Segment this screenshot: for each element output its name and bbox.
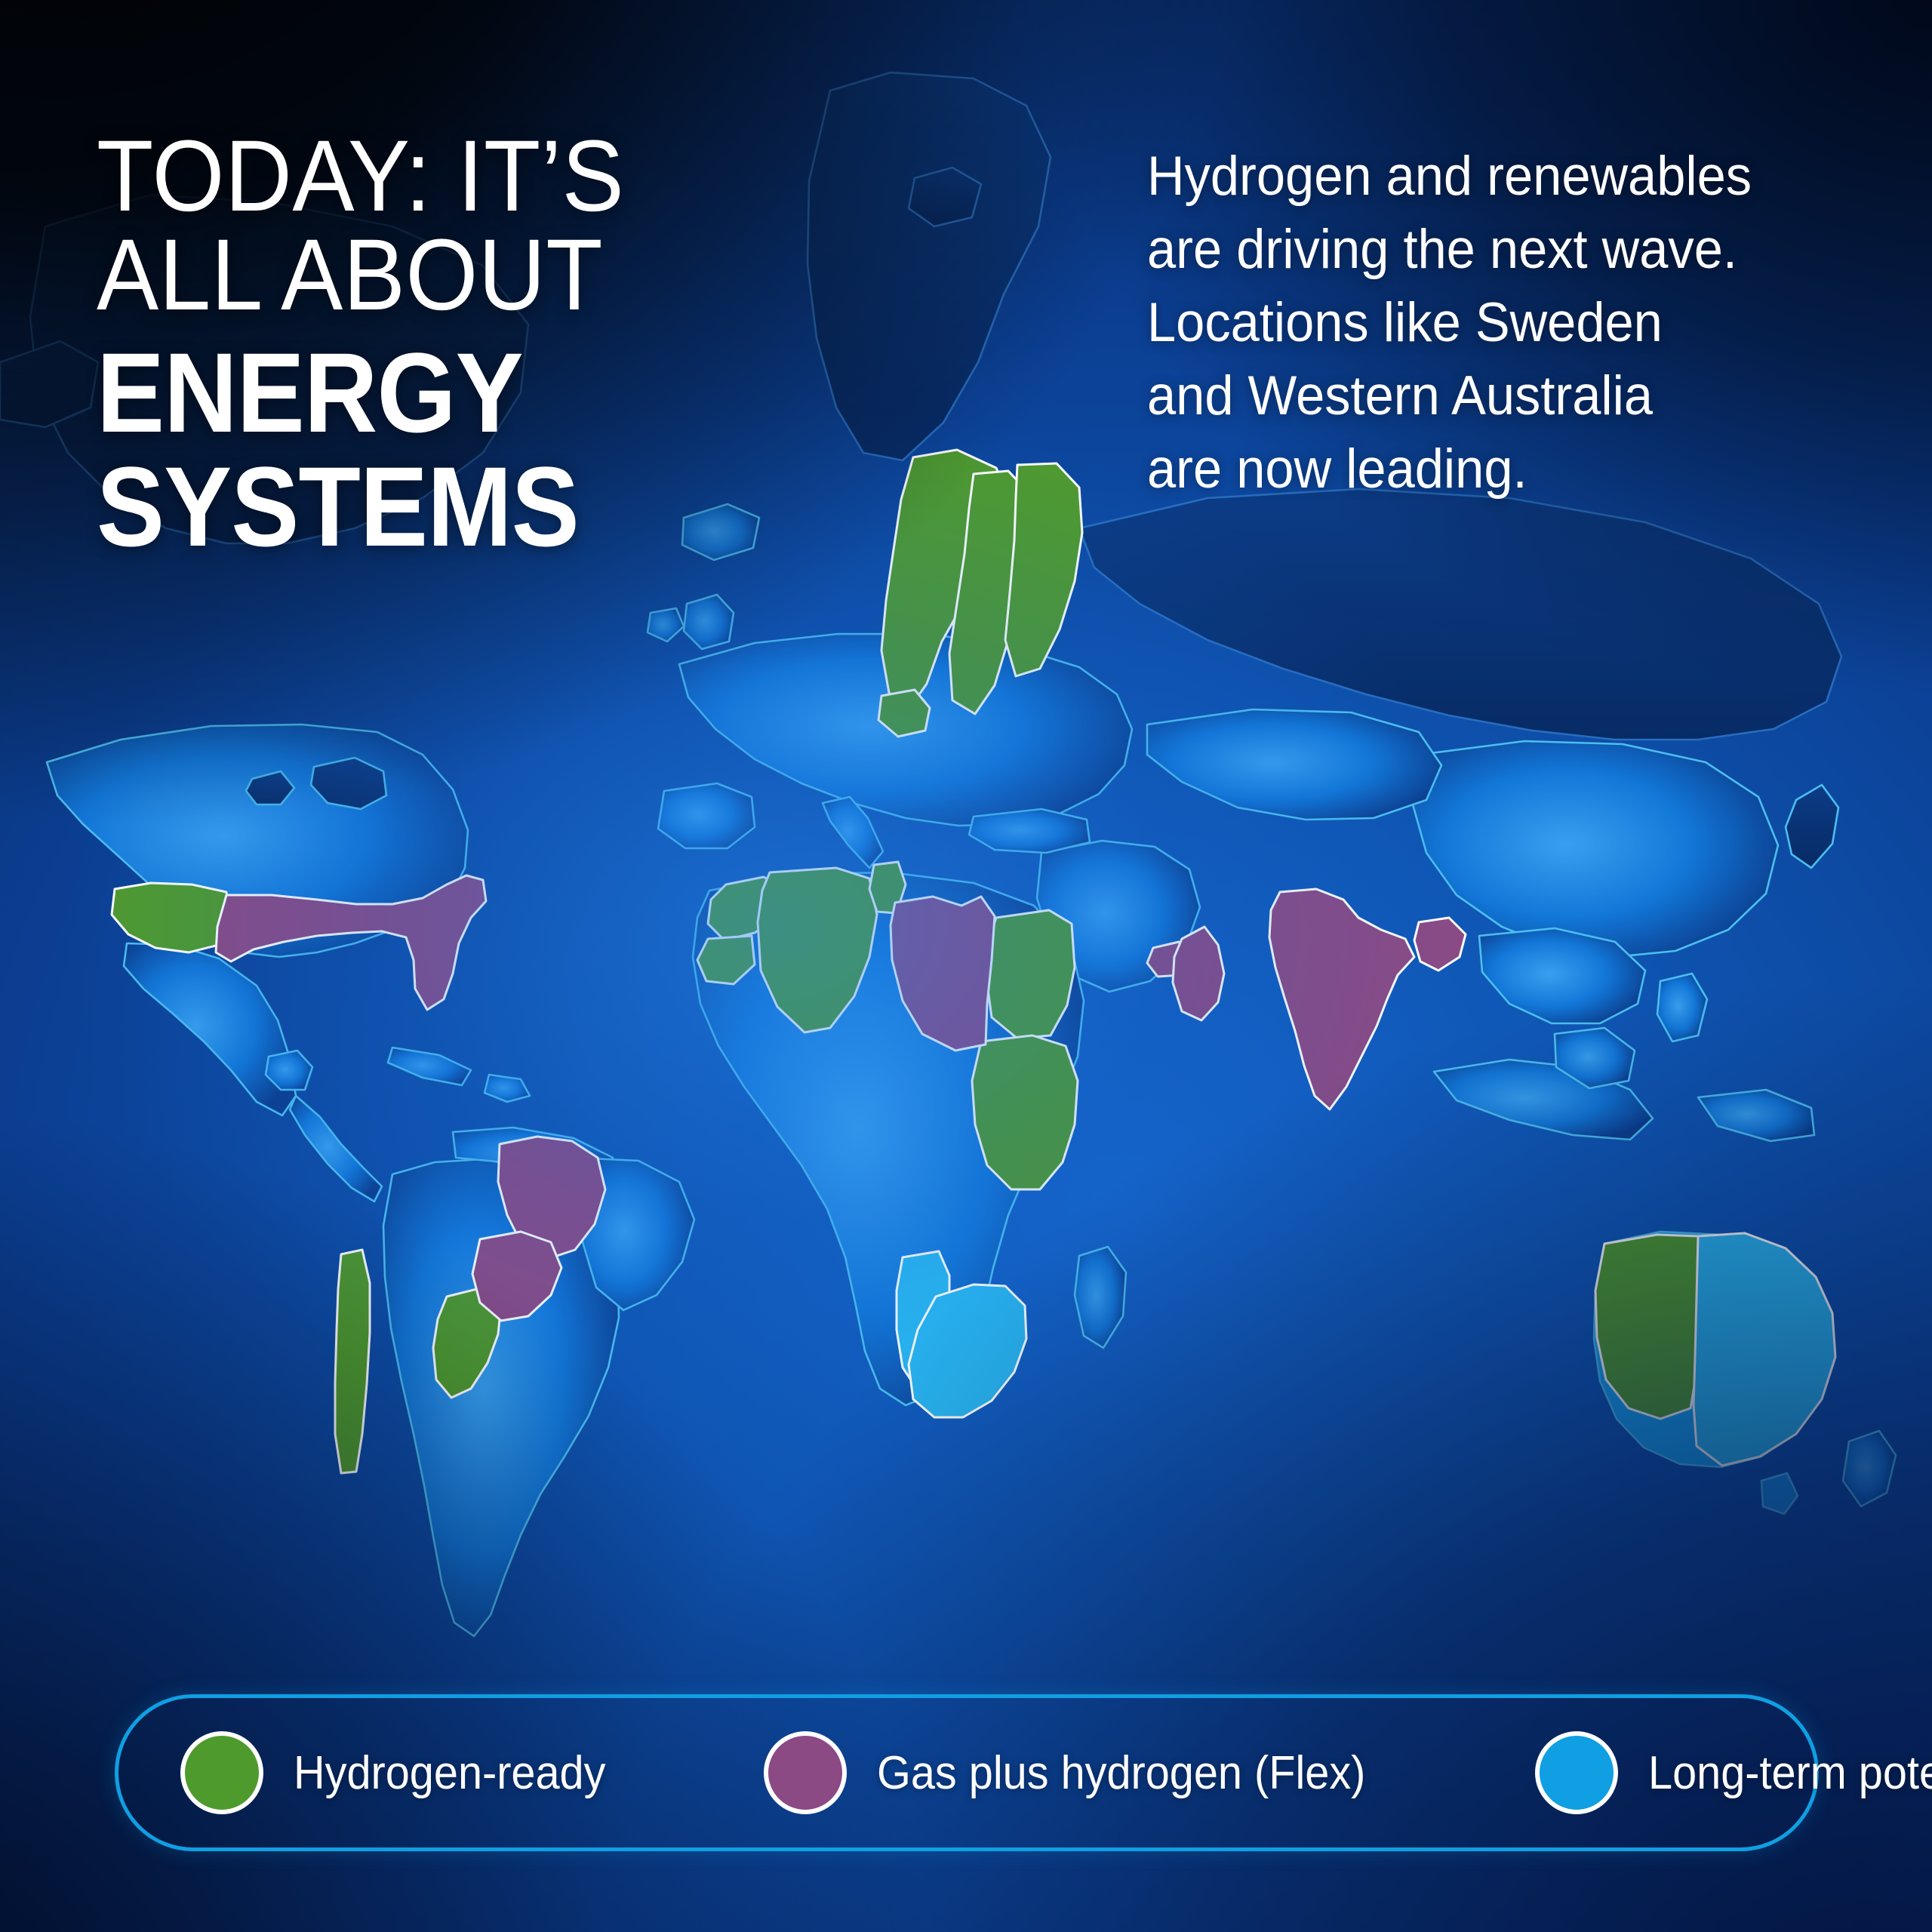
subtext-block: Hydrogen and renewables are driving the … [1147,140,1887,506]
headline-line-2: ALL ABOUT [97,226,832,325]
headline-line-1: TODAY: IT’S [97,127,832,226]
legend-label-long-term-potential: Long-term potential [1648,1746,1932,1800]
subtext-line-5: are now leading. [1147,432,1842,506]
subtext-line-3: Locations like Sweden [1147,286,1842,359]
legend-swatch-long-term-potential [1535,1731,1618,1814]
legend-swatch-hydrogen-ready [180,1731,263,1814]
map-legend: Hydrogen-ready Gas plus hydrogen (Flex) … [115,1694,1819,1851]
headline-line-3: ENERGY [97,337,817,448]
legend-label-hydrogen-ready: Hydrogen-ready [294,1746,605,1800]
legend-item-gas-plus-hydrogen-flex: Gas plus hydrogen (Flex) [764,1731,1402,1814]
subtext-line-1: Hydrogen and renewables [1147,140,1842,213]
legend-item-hydrogen-ready: Hydrogen-ready [180,1731,629,1814]
legend-label-gas-plus-hydrogen-flex: Gas plus hydrogen (Flex) [877,1746,1365,1800]
subtext-line-4: and Western Australia [1147,359,1842,432]
legend-swatch-gas-plus-hydrogen-flex [764,1731,847,1814]
legend-item-long-term-potential: Long-term potential [1535,1731,1932,1814]
subtext-line-2: are driving the next wave. [1147,213,1842,286]
headline-line-4: SYSTEMS [97,451,817,562]
headline-block: TODAY: IT’S ALL ABOUT ENERGY SYSTEMS [97,127,897,562]
infographic-canvas: TODAY: IT’S ALL ABOUT ENERGY SYSTEMS Hyd… [0,0,1932,1932]
